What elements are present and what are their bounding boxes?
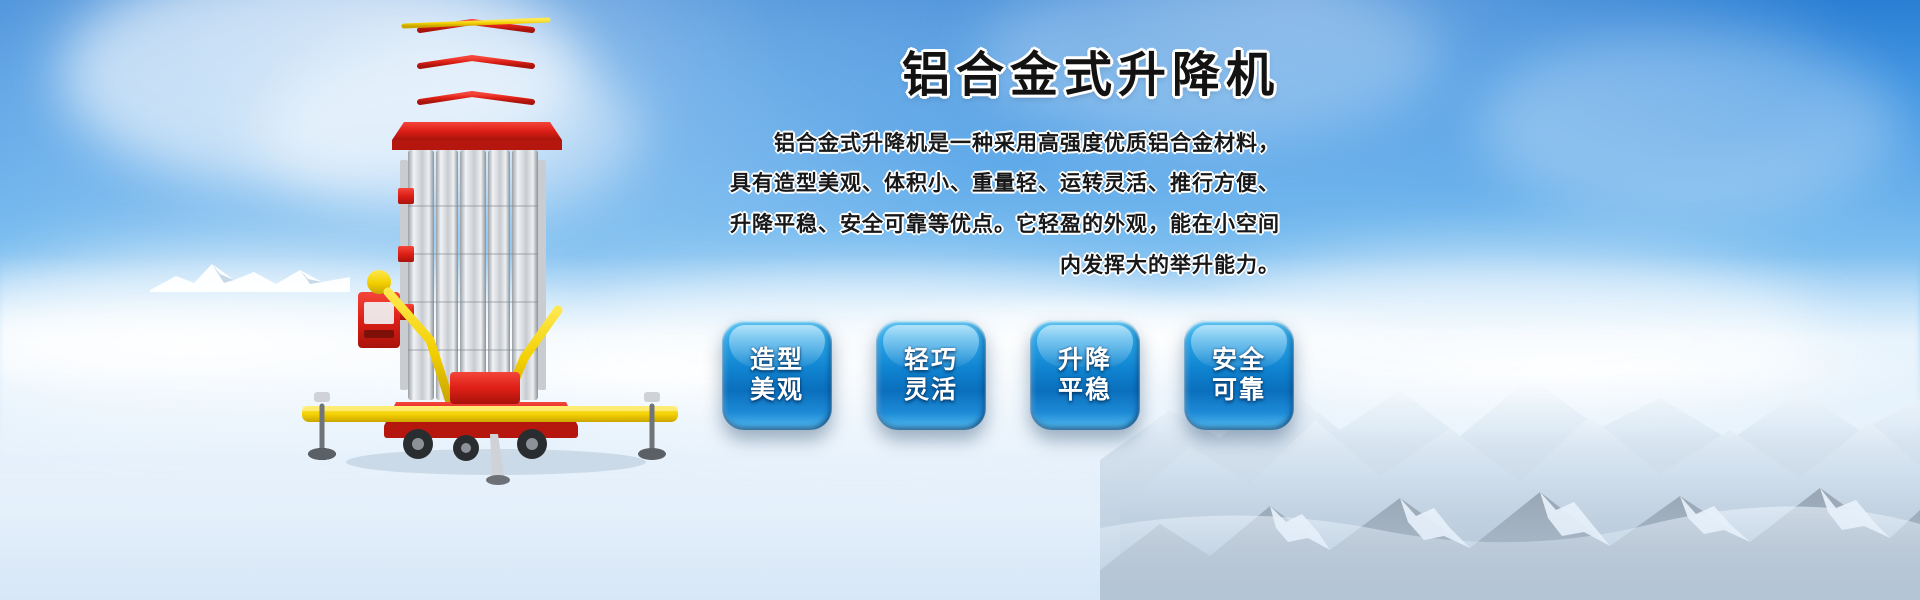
- feature-badge-label-line2: 灵活: [904, 375, 958, 406]
- copy-block: 铝合金式升降机 铝合金式升降机是一种采用高强度优质铝合金材料， 具有造型美观、体…: [720, 46, 1280, 286]
- description-line: 升降平稳、安全可靠等优点。它轻盈的外观，能在小空间: [720, 204, 1280, 245]
- feature-badge-label-line1: 安全: [1212, 345, 1266, 376]
- feature-badge-label-line1: 轻巧: [904, 345, 958, 376]
- description-line: 铝合金式升降机是一种采用高强度优质铝合金材料，: [720, 123, 1280, 164]
- feature-badge-appearance[interactable]: 造型 美观: [722, 320, 832, 430]
- feature-badge-label-line2: 美观: [750, 375, 804, 406]
- feature-badge-smooth-lifting[interactable]: 升降 平稳: [1030, 320, 1140, 430]
- product-description: 铝合金式升降机是一种采用高强度优质铝合金材料， 具有造型美观、体积小、重量轻、运…: [720, 123, 1280, 287]
- feature-badge-safety[interactable]: 安全 可靠: [1184, 320, 1294, 430]
- feature-badge-label-line2: 平稳: [1058, 375, 1112, 406]
- feature-badge-lightweight[interactable]: 轻巧 灵活: [876, 320, 986, 430]
- feature-badge-list: 造型 美观 轻巧 灵活 升降 平稳 安全 可靠: [722, 320, 1294, 430]
- description-line: 内发挥大的举升能力。: [720, 245, 1280, 286]
- promo-banner: 铝合金式升降机 铝合金式升降机是一种采用高强度优质铝合金材料， 具有造型美观、体…: [0, 0, 1920, 600]
- feature-badge-label-line1: 造型: [750, 345, 804, 376]
- feature-badge-label-line2: 可靠: [1212, 375, 1266, 406]
- product-image-aluminum-lift: [300, 10, 680, 490]
- cloud-decoration: [1480, 30, 1900, 220]
- feature-badge-label-line1: 升降: [1058, 345, 1112, 376]
- description-line: 具有造型美观、体积小、重量轻、运转灵活、推行方便、: [720, 163, 1280, 204]
- page-title: 铝合金式升降机: [720, 46, 1280, 105]
